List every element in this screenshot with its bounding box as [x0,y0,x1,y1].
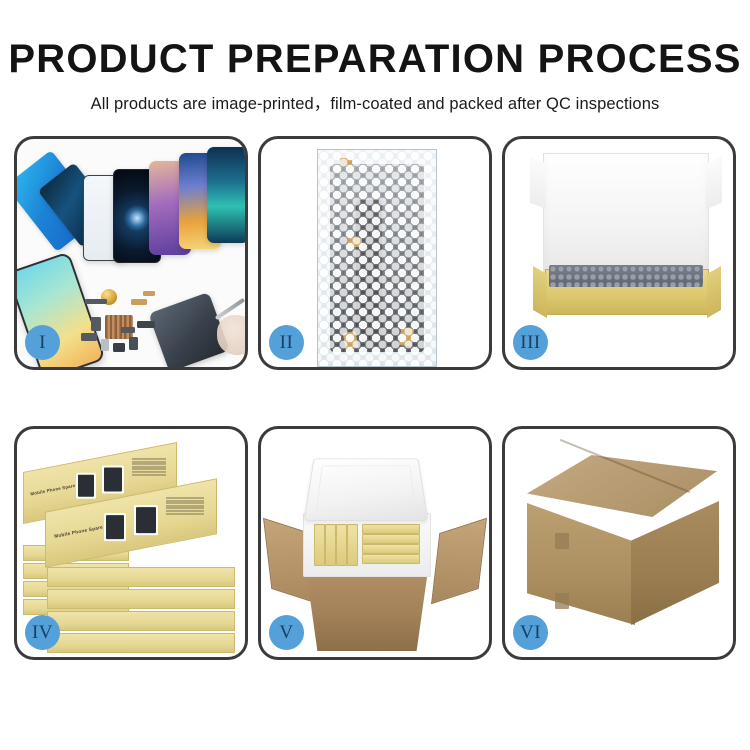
packed-box [362,524,420,534]
spare-parts-box [47,633,235,653]
flex-cable-part [131,299,147,305]
bracket-part [91,317,101,331]
packed-box [336,524,347,566]
carton-side-face [631,501,719,625]
grey-foam-padding [549,265,703,287]
step-badge-6: VI [513,615,548,650]
step-panel-4[interactable]: Mobile Phone Spare Parts Mobile Phone Sp… [14,426,248,660]
label-spec-lines [166,498,204,516]
step-panel-2[interactable]: II [258,136,492,370]
carton-tape-tab [555,593,569,609]
product-photo [104,467,122,491]
sim-tray-part [101,339,109,351]
carton-front-face [527,503,635,625]
step-panel-6[interactable]: VI [502,426,736,660]
phone-screen-teal [207,147,248,243]
step-panel-3[interactable]: III [502,136,736,370]
product-photo [78,475,94,497]
spare-parts-box [47,611,235,631]
technician-hand [217,315,248,355]
step-badge-5: V [269,615,304,650]
spare-parts-box [47,589,235,609]
product-photo [106,515,124,539]
step-badge-3: III [513,325,548,360]
vibration-motor-part [129,337,138,350]
packed-box [347,524,358,566]
page-subtitle: All products are image-printed，film-coat… [0,90,750,114]
packed-box [362,554,420,564]
product-photo [136,507,156,533]
packed-box [362,544,420,554]
process-step-grid: I II III [14,136,736,660]
camera-module-part [113,343,125,352]
step-badge-2: II [269,325,304,360]
carton-tape-tab [555,533,569,549]
antenna-strip-part [121,327,135,333]
bubble-wrap-bag [317,149,437,367]
packed-box [362,534,420,544]
page-title: PRODUCT PREPARATION PROCESS [0,38,750,80]
label-spec-lines [132,458,166,476]
foam-liner [303,513,431,577]
packed-box [325,524,336,566]
shield-can-part [137,321,155,328]
flex-cable-part [143,291,155,296]
foam-lid-open [304,458,429,521]
white-box-lid [543,153,709,279]
carton-flap-right [431,518,487,605]
product-preparation-infographic: PRODUCT PREPARATION PROCESS All products… [0,0,750,750]
step-panel-1[interactable]: I [14,136,248,370]
bubble-texture [318,150,436,366]
screw-plate-part [81,333,97,341]
packed-box [314,524,325,566]
header: PRODUCT PREPARATION PROCESS All products… [0,0,750,114]
step-badge-4: IV [25,615,60,650]
step-badge-1: I [25,325,60,360]
step-panel-5[interactable]: V [258,426,492,660]
battery-connector-part [85,299,107,304]
spare-parts-box [47,567,235,587]
